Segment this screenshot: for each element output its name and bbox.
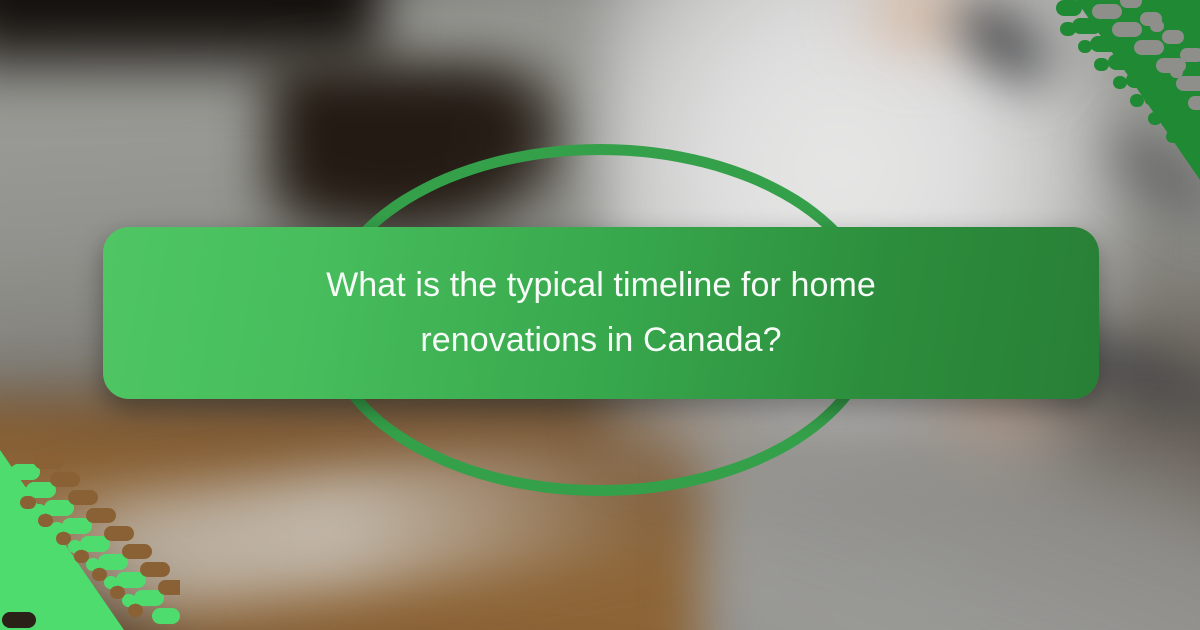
share-card-canvas: What is the typical timeline for home re… <box>0 0 1200 630</box>
page-title: What is the typical timeline for home re… <box>281 258 921 368</box>
title-card: What is the typical timeline for home re… <box>103 227 1099 399</box>
background-corner-vignette <box>0 520 200 630</box>
